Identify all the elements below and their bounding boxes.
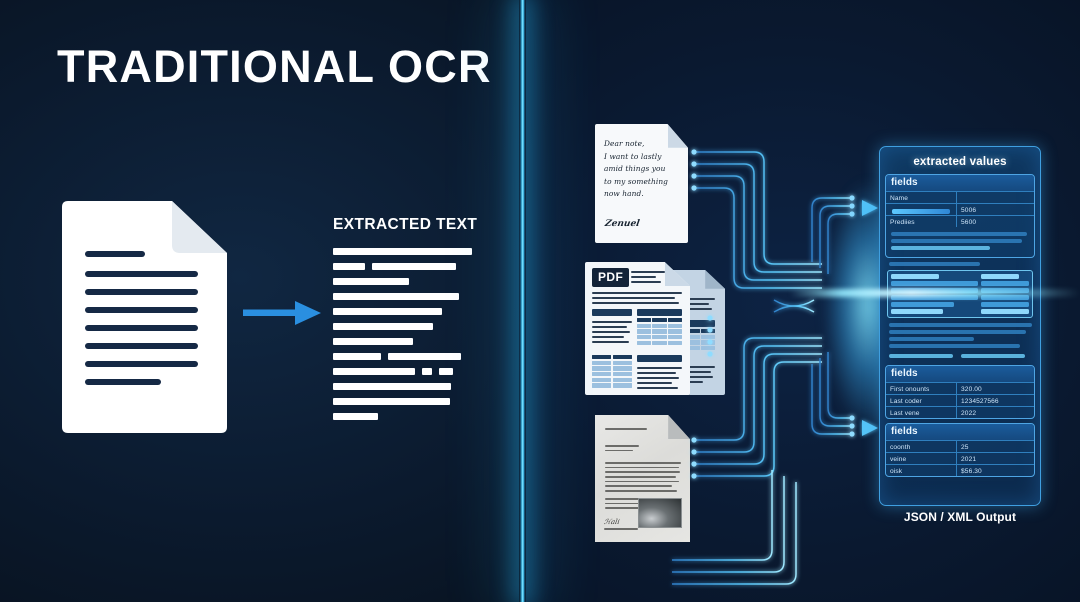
- field-key: coonth: [886, 441, 957, 452]
- text-bar: [422, 368, 432, 375]
- extracted-text-line: [333, 308, 485, 315]
- field-key-bar: [886, 204, 957, 215]
- fields-header: fields: [886, 175, 1034, 191]
- field-value: 5006: [957, 204, 1034, 215]
- field-row: coonth 25: [886, 440, 1034, 452]
- field-value: $56.30: [957, 465, 1034, 476]
- extracted-text-line: [333, 293, 485, 300]
- extracted-text-line: [333, 413, 485, 420]
- text-bar: [333, 323, 433, 330]
- extracted-values-title: extracted values: [885, 153, 1035, 174]
- field-value: 320.00: [957, 383, 1034, 394]
- field-key: veine: [886, 453, 957, 464]
- field-row: First onounts 320.00: [886, 382, 1034, 394]
- extracted-text-line: [333, 338, 485, 345]
- fields-header: fields: [886, 366, 1034, 382]
- extracted-values-preview: [885, 262, 1035, 365]
- field-value: 25: [957, 441, 1034, 452]
- text-bar: [333, 398, 450, 405]
- field-key: oisk: [886, 465, 957, 476]
- extracted-text-lines: [333, 248, 485, 420]
- field-key: Prediies: [886, 216, 957, 227]
- text-bar: [333, 338, 413, 345]
- text-bar: [333, 248, 472, 255]
- field-key: First onounts: [886, 383, 957, 394]
- field-row: Name: [886, 191, 1034, 203]
- infographic-stage: TRADITIONAL OCR: [0, 0, 1080, 602]
- extracted-text-line: [333, 278, 485, 285]
- extracted-text-block: EXTRACTED TEXT: [333, 216, 485, 420]
- field-value: 1234527566: [957, 395, 1034, 406]
- field-value: [957, 192, 1034, 203]
- text-bar: [333, 383, 451, 390]
- extracted-text-line: [333, 353, 485, 360]
- field-key: Name: [886, 192, 957, 203]
- text-bar: [333, 278, 409, 285]
- document-icon: [62, 201, 227, 433]
- text-bar: [333, 368, 415, 375]
- field-row: Prediies 5600: [886, 215, 1034, 227]
- text-bar: [439, 368, 453, 375]
- extracted-text-line: [333, 398, 485, 405]
- field-row: 5006: [886, 203, 1034, 215]
- fields-group: fields First onounts 320.00 Last coder 1…: [885, 365, 1035, 419]
- fields-group: fields Name 5006 Prediies 5600: [885, 174, 1035, 258]
- field-row: oisk $56.30: [886, 464, 1034, 476]
- field-value: 5600: [957, 216, 1034, 227]
- json-xml-output-label: JSON / XML Output: [879, 510, 1041, 524]
- extracted-text-title: EXTRACTED TEXT: [333, 216, 485, 234]
- center-divider: [519, 0, 526, 602]
- field-value: 2022: [957, 407, 1034, 418]
- extracted-text-line: [333, 248, 485, 255]
- extracted-text-line: [333, 263, 485, 270]
- page-title-traditional: TRADITIONAL OCR: [57, 41, 492, 93]
- field-row: Last coder 1234527566: [886, 394, 1034, 406]
- field-row: veine 2021: [886, 452, 1034, 464]
- scan-beam: [790, 289, 1080, 297]
- panel-traditional-ocr: TRADITIONAL OCR: [0, 0, 522, 602]
- field-value: 2021: [957, 453, 1034, 464]
- field-key: Last coder: [886, 395, 957, 406]
- fields-group: fields coonth 25 veine 2021 oisk $56.30: [885, 423, 1035, 477]
- fields-header: fields: [886, 424, 1034, 440]
- text-bar: [333, 308, 442, 315]
- extracted-text-line: [333, 323, 485, 330]
- extracted-values-panel: extracted values fields Name 5006 Predii…: [879, 146, 1041, 506]
- text-bar: [333, 413, 378, 420]
- extracted-text-line: [333, 368, 485, 375]
- text-bar: [333, 293, 459, 300]
- text-bar: [372, 263, 456, 270]
- field-key: Last vene: [886, 407, 957, 418]
- text-bar: [333, 353, 381, 360]
- right-arrow-icon: [243, 300, 321, 326]
- text-bar: [388, 353, 461, 360]
- extracted-text-line: [333, 383, 485, 390]
- field-row: Last vene 2022: [886, 406, 1034, 418]
- text-bar: [333, 263, 365, 270]
